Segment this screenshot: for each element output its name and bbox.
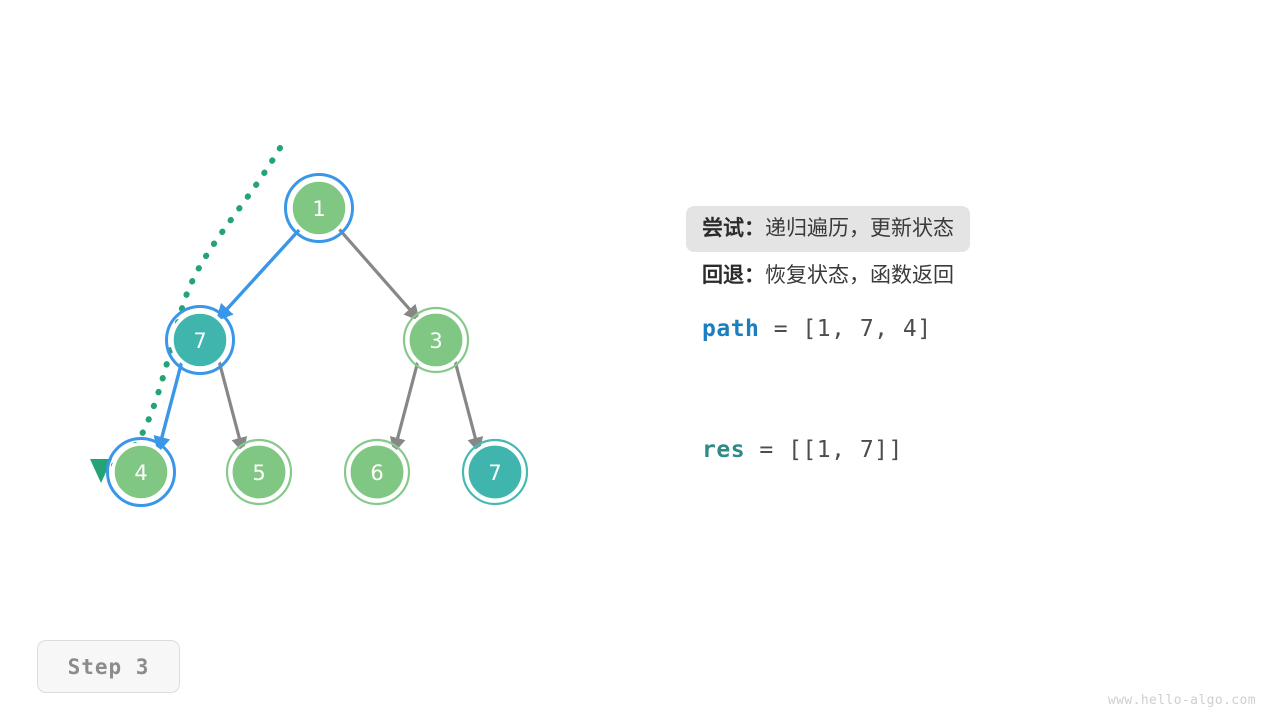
res-variable-row: res = [[1, 7]]	[686, 439, 1246, 462]
tree-node-7-left[interactable]: 7	[167, 307, 234, 374]
tree-node-6[interactable]: 6	[345, 440, 409, 504]
explanation-panel: 尝试：递归遍历，更新状态 回退：恢复状态，函数返回 path = [1, 7, …	[686, 206, 1246, 462]
edge-7-to-5	[219, 361, 243, 452]
diagram-canvas: 1 7 3 4	[0, 0, 1280, 720]
tree-node-7-right[interactable]: 7	[463, 440, 527, 504]
binary-tree-diagram: 1 7 3 4	[0, 0, 640, 720]
path-variable-value: = [1, 7, 4]	[759, 316, 931, 342]
edge-1-to-7	[217, 229, 300, 320]
watermark: www.hello-algo.com	[1108, 693, 1256, 708]
try-step-keyword: 尝试：	[702, 216, 765, 240]
tree-node-1[interactable]: 1	[286, 175, 353, 242]
tree-nodes: 1 7 3 4	[108, 175, 528, 506]
edge-7-to-4	[158, 361, 182, 452]
backtrack-step-text: 恢复状态，函数返回	[765, 263, 954, 287]
backtrack-step-keyword: 回退：	[702, 263, 765, 287]
backtrack-step-row: 回退：恢复状态，函数返回	[686, 252, 1246, 298]
try-step-row: 尝试：递归遍历，更新状态	[686, 206, 970, 252]
step-badge: Step 3	[37, 640, 180, 693]
try-step-line: 尝试：递归遍历，更新状态	[702, 218, 954, 239]
edge-3-to-7	[455, 361, 479, 452]
step-badge-label: Step 3	[68, 655, 150, 679]
edge-3-to-6	[394, 361, 418, 452]
res-variable-name: res	[702, 437, 745, 463]
res-variable-value: = [[1, 7]]	[745, 437, 903, 463]
tree-node-3[interactable]: 3	[404, 308, 468, 372]
tree-node-5[interactable]: 5	[227, 440, 291, 504]
tree-node-4[interactable]: 4	[108, 439, 175, 506]
path-variable-name: path	[702, 316, 759, 342]
path-variable-row: path = [1, 7, 4]	[686, 318, 1246, 341]
edge-1-to-3	[339, 229, 419, 320]
backtrack-step-line: 回退：恢复状态，函数返回	[702, 265, 1230, 286]
try-step-text: 递归遍历，更新状态	[765, 216, 954, 240]
